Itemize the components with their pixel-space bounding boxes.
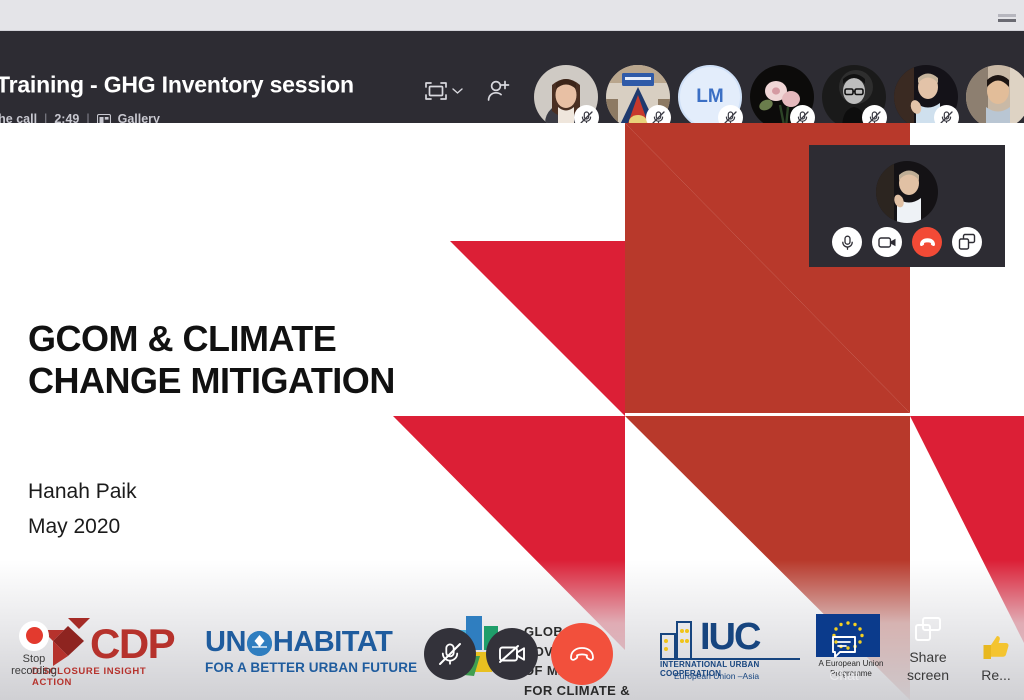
share-screen-icon bbox=[958, 233, 976, 251]
mic-off-button[interactable] bbox=[424, 628, 476, 680]
share-screen-line-1: Share bbox=[890, 649, 966, 667]
chat-button[interactable]: Chat bbox=[806, 631, 882, 685]
minimize-bar-top bbox=[998, 14, 1016, 17]
slide-date: May 2020 bbox=[28, 510, 137, 545]
add-person-icon[interactable] bbox=[486, 79, 512, 103]
avatar bbox=[966, 65, 1024, 123]
share-screen-line-2: screen bbox=[890, 667, 966, 685]
share-screen-label: Share screen bbox=[890, 649, 966, 684]
camera-off-icon bbox=[498, 643, 526, 665]
status-separator-1: | bbox=[44, 112, 47, 123]
participant-7[interactable] bbox=[966, 65, 1024, 123]
reactions-button[interactable]: Re... bbox=[968, 631, 1024, 685]
slide-title-line-1: GCOM & CLIMATE bbox=[28, 318, 395, 360]
self-view-camera-button[interactable] bbox=[872, 227, 902, 257]
stop-recording-line-1: Stop bbox=[10, 653, 58, 666]
participant-avatar-list: LM bbox=[534, 65, 1024, 123]
meeting-header-bar: Training - GHG Inventory session the cal… bbox=[0, 31, 1024, 123]
meeting-title: Training - GHG Inventory session bbox=[0, 72, 354, 99]
chat-bubble-icon bbox=[806, 631, 882, 663]
slide-title: GCOM & CLIMATE CHANGE MITIGATION bbox=[28, 318, 395, 402]
call-control-bar: Stop recording bbox=[0, 590, 1024, 700]
participant-5[interactable] bbox=[822, 65, 886, 123]
share-screen-icon bbox=[890, 613, 966, 645]
os-title-strip bbox=[0, 0, 1024, 31]
self-view-controls bbox=[809, 227, 1005, 257]
thumbs-up-icon bbox=[968, 631, 1024, 663]
window-minimize-icon[interactable] bbox=[998, 14, 1016, 23]
gallery-view-icon bbox=[97, 114, 111, 123]
mute-badge bbox=[790, 105, 815, 123]
participant-6[interactable] bbox=[894, 65, 958, 123]
self-view-hangup-button[interactable] bbox=[912, 227, 942, 257]
call-status-text: the call bbox=[0, 112, 37, 123]
record-dot-icon bbox=[19, 621, 49, 651]
mute-badge bbox=[646, 105, 671, 123]
microphone-icon bbox=[839, 234, 856, 251]
stop-recording-button[interactable]: Stop recording bbox=[10, 621, 58, 678]
chat-label: Chat bbox=[806, 667, 882, 685]
stop-recording-label: Stop recording bbox=[10, 653, 58, 678]
meeting-status-bar: the call | 2:49 | Gallery bbox=[0, 112, 160, 123]
participant-3[interactable]: LM bbox=[678, 65, 742, 123]
mute-badge bbox=[862, 105, 887, 123]
mute-badge bbox=[718, 105, 743, 123]
hangup-button[interactable] bbox=[551, 623, 613, 685]
view-mode-label: Gallery bbox=[118, 112, 160, 123]
self-view-panel[interactable] bbox=[809, 145, 1005, 267]
hangup-phone-icon bbox=[568, 645, 596, 663]
slide-author-name: Hanah Paik bbox=[28, 475, 137, 510]
self-view-avatar bbox=[876, 161, 938, 223]
participant-4[interactable] bbox=[750, 65, 814, 123]
slide-author-block: Hanah Paik May 2020 bbox=[28, 475, 137, 544]
participant-1[interactable] bbox=[534, 65, 598, 123]
self-view-mic-button[interactable] bbox=[832, 227, 862, 257]
self-view-share-button[interactable] bbox=[952, 227, 982, 257]
share-screen-button[interactable]: Share screen bbox=[890, 613, 966, 684]
participant-2[interactable] bbox=[606, 65, 670, 123]
status-separator-2: | bbox=[86, 112, 89, 123]
call-elapsed-time: 2:49 bbox=[54, 112, 79, 123]
slide-title-line-2: CHANGE MITIGATION bbox=[28, 360, 395, 402]
chevron-down-icon bbox=[452, 87, 463, 95]
stop-recording-line-2: recording bbox=[10, 665, 58, 678]
minimize-bar-bottom bbox=[998, 19, 1016, 22]
camera-icon bbox=[878, 235, 897, 249]
microphone-off-icon bbox=[437, 641, 463, 667]
reactions-label: Re... bbox=[968, 667, 1024, 685]
hangup-phone-icon bbox=[918, 236, 937, 248]
camera-off-button[interactable] bbox=[486, 628, 538, 680]
layout-frame-icon[interactable] bbox=[424, 81, 463, 101]
mute-badge bbox=[934, 105, 959, 123]
teams-meeting-window: Training - GHG Inventory session the cal… bbox=[0, 0, 1024, 700]
mute-badge bbox=[574, 105, 599, 123]
